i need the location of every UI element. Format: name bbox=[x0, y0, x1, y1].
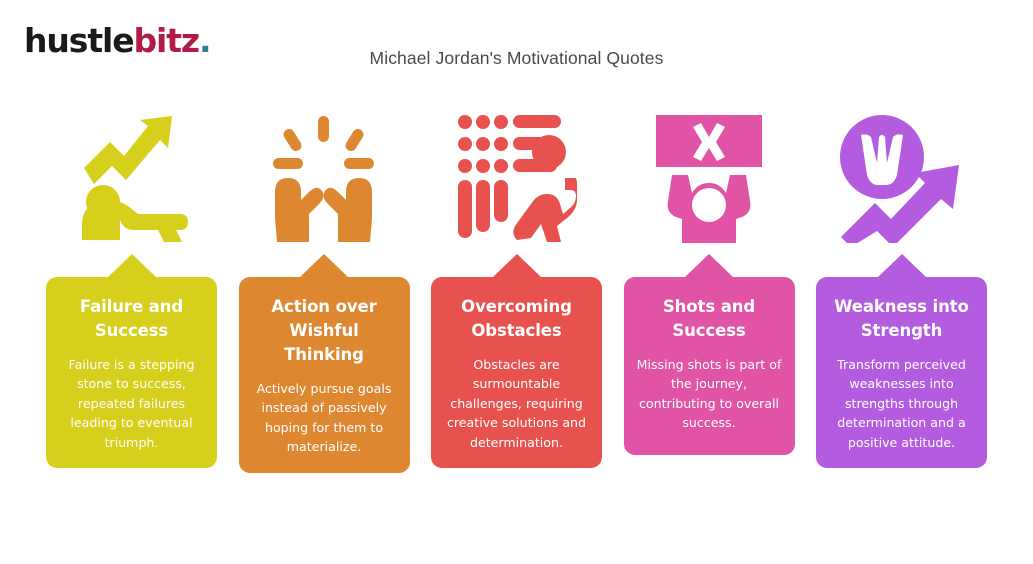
card-notch bbox=[300, 254, 348, 277]
card-column-action-over-wishful-thinking[interactable]: Action over Wishful Thinking Actively pu… bbox=[239, 104, 410, 473]
person-arms-raised-x-banner-icon bbox=[624, 104, 795, 254]
card-block: Weakness into Strength Transform perceiv… bbox=[816, 254, 987, 468]
card-notch bbox=[108, 254, 156, 277]
card-overcoming-obstacles[interactable]: Overcoming Obstacles Obstacles are surmo… bbox=[431, 277, 602, 468]
card-failure-and-success[interactable]: Failure and Success Failure is a steppin… bbox=[46, 277, 217, 468]
card-body: Transform perceived weaknesses into stre… bbox=[826, 355, 977, 453]
card-title: Shots and Success bbox=[634, 295, 785, 343]
card-title: Overcoming Obstacles bbox=[441, 295, 592, 343]
card-body: Actively pursue goals instead of passive… bbox=[249, 379, 400, 457]
card-block: Overcoming Obstacles Obstacles are surmo… bbox=[431, 254, 602, 468]
card-notch bbox=[493, 254, 541, 277]
card-column-overcoming-obstacles[interactable]: Overcoming Obstacles Obstacles are surmo… bbox=[431, 104, 602, 468]
card-body: Obstacles are surmountable challenges, r… bbox=[441, 355, 592, 453]
w-circle-rising-arrow-icon bbox=[816, 104, 987, 254]
card-body: Missing shots is part of the journey, co… bbox=[634, 355, 785, 433]
card-block: Failure and Success Failure is a steppin… bbox=[46, 254, 217, 468]
card-notch bbox=[878, 254, 926, 277]
card-title: Failure and Success bbox=[56, 295, 207, 343]
card-weakness-into-strength[interactable]: Weakness into Strength Transform perceiv… bbox=[816, 277, 987, 468]
card-block: Shots and Success Missing shots is part … bbox=[624, 254, 795, 455]
fallen-person-rising-arrow-icon bbox=[46, 104, 217, 254]
page-title: Michael Jordan's Motivational Quotes bbox=[0, 48, 1033, 69]
person-pushing-barrier-icon bbox=[431, 104, 602, 254]
card-title: Weakness into Strength bbox=[826, 295, 977, 343]
card-action-over-wishful-thinking[interactable]: Action over Wishful Thinking Actively pu… bbox=[239, 277, 410, 473]
card-column-weakness-into-strength[interactable]: Weakness into Strength Transform perceiv… bbox=[816, 104, 987, 468]
card-column-failure-and-success[interactable]: Failure and Success Failure is a steppin… bbox=[46, 104, 217, 468]
card-notch bbox=[685, 254, 733, 277]
cards-row: Failure and Success Failure is a steppin… bbox=[46, 104, 987, 504]
card-shots-and-success[interactable]: Shots and Success Missing shots is part … bbox=[624, 277, 795, 455]
page-header: hustlebitz. Michael Jordan's Motivationa… bbox=[0, 0, 1033, 100]
card-block: Action over Wishful Thinking Actively pu… bbox=[239, 254, 410, 473]
open-hands-rays-icon bbox=[239, 104, 410, 254]
card-body: Failure is a stepping stone to success, … bbox=[56, 355, 207, 453]
card-title: Action over Wishful Thinking bbox=[249, 295, 400, 367]
card-column-shots-and-success[interactable]: Shots and Success Missing shots is part … bbox=[624, 104, 795, 455]
